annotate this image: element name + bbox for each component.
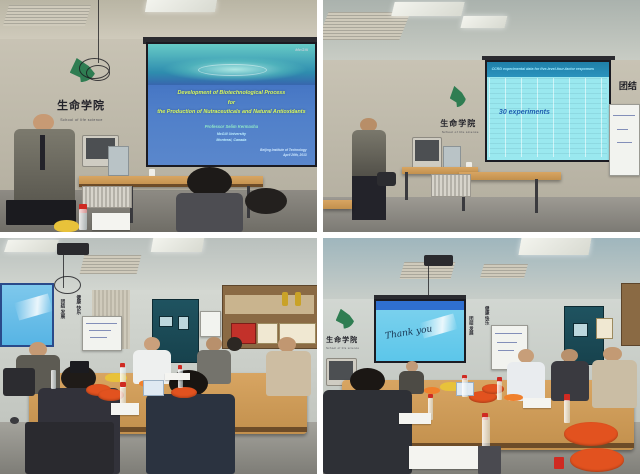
tissue-box [143,380,164,396]
whiteboard-writing [495,333,521,334]
slide-top-band [376,301,464,309]
ceiling-light-1 [4,240,59,252]
attendee-head [518,349,535,364]
foreground-chair-left [25,422,114,474]
whiteboard-writing-2 [497,342,517,343]
snack-bowl-large-1 [564,422,618,446]
notepad-2 [523,398,552,407]
cabinet [621,283,640,346]
attendee-jacket [266,351,310,396]
slide-title-line-1: Development of Biotechnological Process [154,90,308,96]
radiator [82,186,132,209]
notepad-2 [165,373,190,380]
slide-presenter: Professor Selim Kermasha [148,124,315,129]
ceiling-vent [3,5,91,26]
data-slide-header-text: CCRD experimental data for five-level-fo… [492,67,594,71]
whiteboard [609,104,640,176]
scene-meeting-room-view-a: 健康 快乐 团结 发展 [0,238,317,474]
attendee-beige-jacket [266,337,310,396]
thermos-flask [478,446,500,474]
trophy-1 [282,292,288,306]
notepad-1 [399,413,431,425]
ceiling-vent [80,255,142,274]
snack-bowl-large-2 [570,448,624,472]
foreground-table [323,200,352,209]
slide-title-line-2: for [154,100,308,106]
snack-bowl-6 [424,387,440,394]
laptop [70,361,89,373]
ceiling-projector [424,255,453,267]
scene-lecture-title-slide: McGill Development of Biotechnological P… [0,0,317,232]
slide-host: Beijing Institute of Technology [260,148,306,152]
data-slide: CCRD experimental data for five-level-fo… [487,62,610,160]
wall-sign-chinese: 生命学院 [326,335,358,345]
table-leg-1 [405,172,408,200]
photo-collage: McGill Development of Biotechnological P… [0,0,640,474]
bananas [54,220,79,232]
school-bird-logo-icon [450,86,472,114]
cable-loop-inner [86,65,110,81]
whiteboard-writing-3 [617,142,632,143]
wall-sign-chinese: 生命学院 [57,97,105,113]
wall-banner-chinese: 团结 [619,79,637,92]
slide-location: Montreal, Canada [148,138,315,142]
audience-head-b [245,188,287,214]
mcgill-logo: McGill [295,47,308,52]
projection-screen: Thank you [374,299,466,363]
attendee-head [227,337,242,351]
wall-text-unity-development: 团结 发展 [469,316,475,335]
presenter-person [352,118,387,218]
thank-you-slide: Thank you [376,301,464,361]
scene-data-slide: CCRD experimental data for five-level-fo… [323,0,640,232]
slide-title-line-3: the Production of Nutraceuticals and Nat… [154,109,308,115]
table-leg-3 [535,179,538,214]
water-bottle-1 [462,378,467,397]
bottle-cap-3 [120,382,125,387]
bottle-cap-6 [554,457,564,469]
water-bottle-4 [51,370,56,389]
crt-monitor [412,137,443,169]
notice-board [200,311,221,337]
wall-text-health-happiness: 健康 快乐 [76,295,82,315]
photo-panel-bottom-right: Thank you 生命学院 School of life science 健康… [323,238,640,474]
data-slide-table-grid [489,78,607,157]
office-chair-back [3,368,35,396]
radiator [431,174,471,197]
attendee-beige-jacket [592,347,636,408]
snack-bowl-5 [504,394,523,401]
notebook-foreground [409,446,479,470]
papers-on-table [92,213,130,229]
data-slide-callout: 30 experiments [499,109,550,116]
foreground-body-right [146,394,235,474]
whiteboard [82,316,122,351]
water-bottle [79,209,87,230]
projection-screen [0,283,54,347]
wall-sign-english: School of life science [442,130,479,134]
wall-sign-chinese: 生命学院 [440,118,476,129]
attendee-head [561,349,578,362]
door-window-left [159,316,174,327]
photo-panel-top-left: McGill Development of Biotechnological P… [0,0,317,232]
attendee-suit [551,361,589,400]
photo-panel-bottom-left: 健康 快乐 团结 发展 [0,238,317,474]
stool-seat [377,172,396,186]
photo-panel-top-right: CCRD experimental data for five-level-fo… [323,0,640,232]
slide-date: April 26th, 2013 [283,153,307,157]
ceiling-light-1 [391,2,464,16]
whiteboard-writing [613,115,635,116]
title-slide: McGill Development of Biotechnological P… [148,44,315,165]
notepad-1 [111,403,140,415]
desktop-computer [108,146,129,176]
ceiling-vent-2 [479,264,527,278]
whiteboard-writing [86,323,116,324]
ceiling-projector [57,243,89,255]
thank-you-text: Thank you [384,324,433,341]
ceiling-light-2 [461,16,508,28]
whiteboard-writing-3 [90,337,107,338]
water-bottle-2 [497,381,502,400]
wall-notice [596,318,614,339]
slide-affiliation: McGill University [148,132,315,136]
hanging-cable [98,0,99,63]
audience-person-b [231,188,301,232]
scene-meeting-room-view-b: Thank you 生命学院 School of life science 健康… [323,238,640,474]
attendee-dark-suit [551,349,589,401]
water-bottle-4 [564,400,570,424]
projection-screen: McGill Development of Biotechnological P… [146,42,317,167]
attendee-jacket [592,360,636,408]
wall-text-unity-development: 团结 发展 [60,299,66,319]
school-bird-logo-icon [336,309,361,335]
trophy-2 [295,292,301,306]
projection-screen: CCRD experimental data for five-level-fo… [485,60,612,162]
ceiling-light [145,0,217,12]
table-right [459,172,560,180]
whiteboard-writing-2 [617,129,628,130]
attendee-head [278,337,297,352]
presenter-necktie [40,135,45,170]
door-window [573,323,588,337]
ceiling-light-1 [518,238,591,255]
door-window-right [178,316,190,330]
slide-ripple-graphic [148,44,315,85]
snack-bowl-3 [171,387,196,399]
foreground-body-left [323,390,412,474]
wall-sign-english: School of life science [326,347,359,350]
whiteboard-writing-2 [89,330,111,331]
data-slide-header-bar: CCRD experimental data for five-level-fo… [487,62,610,77]
ceiling-light-2 [151,238,204,252]
wall-text-health-happiness: 健康 快乐 [485,306,491,325]
